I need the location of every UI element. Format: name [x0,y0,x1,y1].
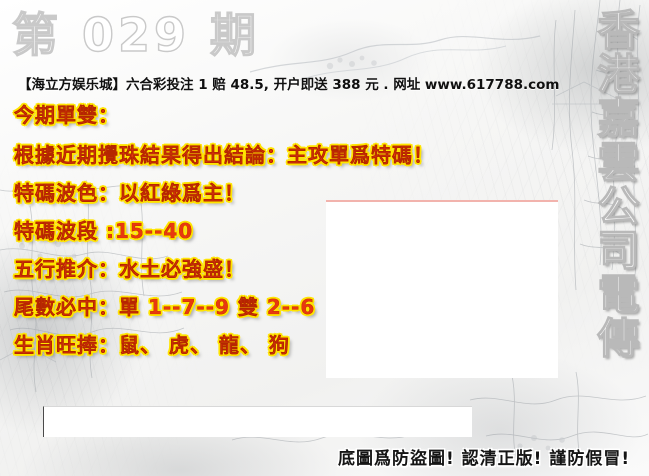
bottom-content-bar [43,406,472,437]
tip-line-zodiac: 生肖旺捧：鼠、 虎、 龍、 狗 [14,334,554,356]
anti-piracy-notice: 底圖爲防盜圖! 認清正版! 謹防假冒! [338,448,630,470]
lottery-tip-poster: 第 029 期 【海立方娱乐城】六合彩投注 1 赔 48.5, 开户即送 388… [0,0,649,476]
vertical-company-brand: 香港嘉雲公司電傳 [581,8,641,428]
tip-line-five-elements: 五行推介：水土必強盛！ [14,258,554,280]
advertisement-banner: 【海立方娱乐城】六合彩投注 1 赔 48.5, 开户即送 388 元 . 网址 … [18,76,578,94]
tip-line-odd-even: 今期單雙： [14,104,554,126]
tip-line-tail-numbers: 尾數必中：單 1--7--9 雙 2--6 [14,296,554,318]
tip-line-wave-range: 特碼波段 :15--40 [14,220,554,242]
prediction-tip-list: 今期單雙： 根據近期攪珠結果得出結論：主攻單爲特碼！ 特碼波色：以紅綠爲主！ 特… [14,104,554,372]
tip-line-conclusion: 根據近期攪珠結果得出結論：主攻單爲特碼！ [14,144,554,166]
issue-title: 第 029 期 [12,8,260,62]
tip-line-wave-color: 特碼波色：以紅綠爲主！ [14,182,554,204]
